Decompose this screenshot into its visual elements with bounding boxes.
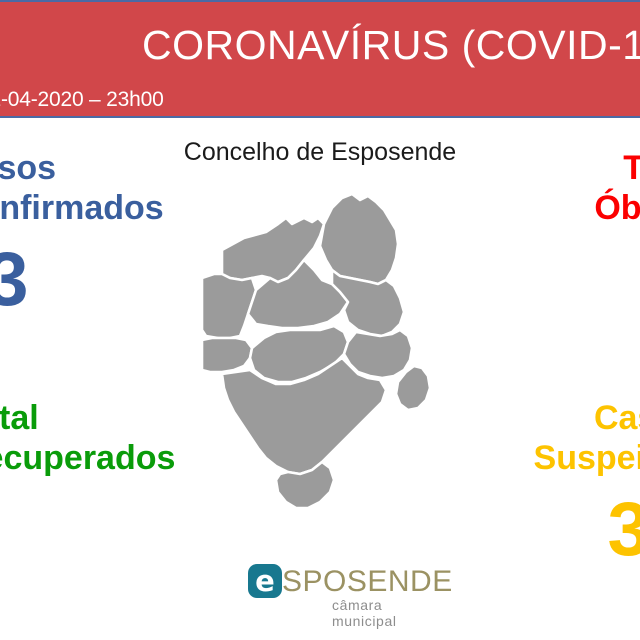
header-banner: CORONAVÍRUS (COVID-19) 21-04-2020 – 23h0… [0,0,640,118]
stat-suspected-value: 39 [534,490,640,570]
esposende-logo: e SPOSENDE câmara municipal [248,562,428,618]
stat-deaths-value: 0 [594,240,640,320]
map-region-w-upper [202,274,256,338]
stat-deaths-label-line1: Total [594,148,640,188]
map-title: Concelho de Esposende [170,138,470,167]
municipality-map-panel: Concelho de Esposende [170,138,470,558]
map-region-w-lower [202,338,252,372]
stat-suspected-label-line2: Suspeitos [534,438,640,478]
stat-confirmed-label-line1: Casos [0,148,164,188]
stat-deaths-label-line2: Óbitos [594,188,640,228]
stat-confirmed-value: 43 [0,240,164,320]
stat-total-deaths: Total Óbitos 0 [594,148,640,320]
stat-total-recovered: Total Recuperados 3 [0,398,175,570]
stat-recovered-label-line2: Recuperados [0,438,175,478]
stat-confirmed-cases: Casos Confirmados 43 [0,148,164,320]
report-timestamp: 21-04-2020 – 23h00 [0,88,164,112]
stat-recovered-value: 3 [0,490,175,570]
stat-suspected-label-line1: Casos [534,398,640,438]
esposende-parish-map [200,174,440,564]
logo-subtitle: câmara municipal [332,597,428,629]
logo-badge-icon: e [248,564,282,598]
stat-recovered-label-line1: Total [0,398,175,438]
logo-wordmark: SPOSENDE [282,565,453,599]
page-title: CORONAVÍRUS (COVID-19) [142,22,640,69]
stat-suspected-cases: Casos Suspeitos 39 [534,398,640,570]
stat-confirmed-label-line2: Confirmados [0,188,164,228]
